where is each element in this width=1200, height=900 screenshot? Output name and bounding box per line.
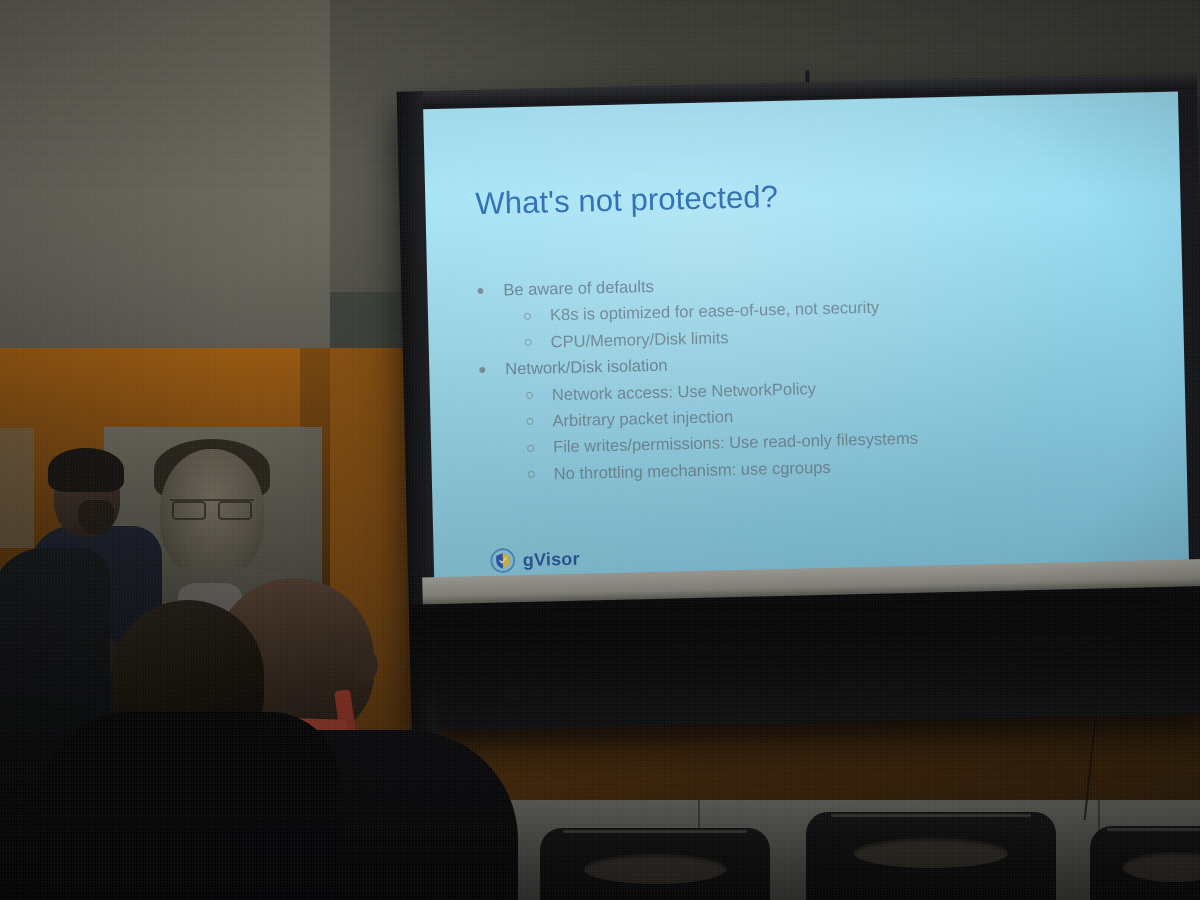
audience-ear (352, 648, 378, 682)
presenter-beard (78, 500, 114, 534)
bullet-text: CPU/Memory/Disk limits (550, 325, 728, 356)
bullet-text: Be aware of defaults (503, 274, 654, 304)
bullet-text: No throttling mechanism: use cgroups (553, 455, 831, 488)
screen-under-shadow (409, 586, 1200, 755)
slide-bullet-list: Be aware of defaults K8s is optimized fo… (477, 262, 1172, 489)
bullet-marker-hollow-circle-icon (527, 435, 554, 462)
projection-screen: What's not protected? Be aware of defaul… (396, 61, 1200, 750)
audience-shoulders (40, 712, 340, 900)
gvisor-shield-icon (489, 547, 516, 574)
bullet-marker-hollow-circle-icon (524, 303, 551, 330)
poster-glasses-icon (170, 499, 254, 514)
gvisor-wordmark: gVisor (523, 548, 580, 570)
bullet-text: Network/Disk isolation (505, 353, 668, 383)
bullet-marker-hollow-circle-icon (527, 461, 554, 488)
wall-column (330, 292, 402, 354)
bullet-marker-hollow-circle-icon (524, 329, 551, 356)
slide-title: What's not protected? (475, 179, 778, 222)
gvisor-logo: gVisor (489, 546, 579, 574)
bullet-marker-hollow-circle-icon (526, 408, 553, 435)
presenter-hair (48, 448, 124, 492)
chair-back (806, 812, 1056, 900)
chair-back (1090, 826, 1200, 900)
slide-surface: What's not protected? Be aware of defaul… (423, 92, 1189, 580)
bullet-marker-filled-dot-icon (479, 357, 506, 384)
photo-scene: What's not protected? Be aware of defaul… (0, 0, 1200, 900)
chair-back (540, 828, 770, 900)
bullet-marker-hollow-circle-icon (526, 382, 553, 409)
bullet-marker-filled-dot-icon (477, 277, 504, 304)
